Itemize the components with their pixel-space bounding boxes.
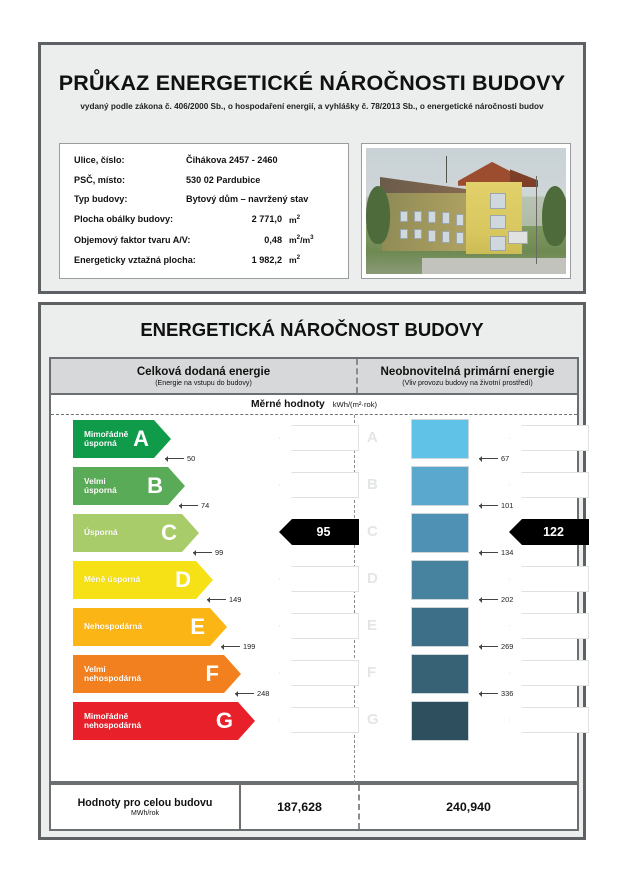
- boundary-left: 74: [179, 501, 209, 510]
- shape-factor-label: Objemový faktor tvaru A/V:: [74, 235, 224, 245]
- class-arrow-b: Velmi úspornáB: [73, 467, 185, 505]
- boundary-right: 202: [479, 595, 513, 604]
- energy-class-rows: Mimořádně úspornáA50A67Velmi úspornáB74B…: [51, 417, 577, 746]
- totals-row: Hodnoty pro celou budovu MWh/rok 187,628…: [49, 783, 579, 831]
- slot-letter-left: B: [367, 476, 378, 493]
- slot-letter-left: D: [367, 570, 378, 587]
- boundary-left: 149: [207, 595, 241, 604]
- value-tag-left: 95: [279, 519, 359, 545]
- primary-energy-block: [411, 513, 469, 553]
- slot-letter-left: E: [367, 617, 377, 634]
- class-letter-e: E: [190, 614, 205, 640]
- envelope-area-unit: m2: [289, 214, 300, 225]
- primary-energy-block: [411, 654, 469, 694]
- zip-value: 530 02 Pardubice: [186, 175, 260, 185]
- class-letter-a: A: [133, 426, 149, 452]
- row-zip: PSČ, místo: 530 02 Pardubice: [74, 175, 336, 185]
- energy-class-row: Velmi nehospodárnáF248F336: [51, 652, 577, 699]
- class-letter-b: B: [147, 473, 163, 499]
- class-letter-c: C: [161, 520, 177, 546]
- boundary-left: 50: [165, 454, 195, 463]
- column-left-title: Celková dodaná energie: [137, 365, 270, 378]
- value-tag-left-text: 95: [308, 525, 331, 539]
- class-arrow-label: Méně úsporná: [84, 575, 140, 584]
- boundary-right: 269: [479, 642, 513, 651]
- class-arrow-label: Mimořádně nehospodárná: [84, 712, 141, 731]
- unit-main-label: Měrné hodnoty: [251, 399, 325, 410]
- totals-right-value: 240,940: [360, 785, 577, 829]
- value-slot-left: [279, 472, 359, 498]
- value-slot-right: [509, 566, 589, 592]
- value-slot-left: [279, 613, 359, 639]
- class-arrow-d: Méně úspornáD: [73, 561, 213, 599]
- street-label: Ulice, číslo:: [74, 155, 186, 165]
- column-left-subtitle: (Energie na vstupu do budovy): [155, 379, 252, 387]
- slot-letter-left: A: [367, 429, 378, 446]
- envelope-area-label: Plocha obálky budovy:: [74, 214, 224, 224]
- value-slot-right: [509, 425, 589, 451]
- building-type-label: Typ budovy:: [74, 194, 186, 204]
- energy-class-row: NehospodárnáE199E269: [51, 605, 577, 652]
- slot-letter-left: F: [367, 664, 376, 681]
- boundary-right: 67: [479, 454, 509, 463]
- value-slot-right: [509, 613, 589, 639]
- shape-factor-unit: m2/m3: [289, 234, 314, 245]
- totals-label-cell: Hodnoty pro celou budovu MWh/rok: [51, 785, 241, 829]
- value-tag-right: 122: [509, 519, 589, 545]
- energy-class-row: Méně úspornáD149D202: [51, 558, 577, 605]
- building-type-value: Bytový dům – navržený stav: [186, 194, 308, 204]
- column-right-subtitle: (Vliv provozu budovy na životní prostřed…: [402, 379, 533, 387]
- primary-energy-block: [411, 560, 469, 600]
- boundary-right: 336: [479, 689, 513, 698]
- energy-section-title: ENERGETICKÁ NÁROČNOST BUDOVY: [41, 305, 583, 341]
- column-right-title: Neobnovitelná primární energie: [381, 365, 555, 378]
- unit-sub-label: kWh/(m²·rok): [333, 400, 377, 409]
- row-street: Ulice, číslo: Čihákova 2457 - 2460: [74, 155, 336, 165]
- energy-class-row: Velmi úspornáB74B101: [51, 464, 577, 511]
- row-reference-area: Energeticky vztažná plocha: 1 982,2 m2: [74, 254, 336, 265]
- row-shape-factor: Objemový faktor tvaru A/V: 0,48 m2/m3: [74, 234, 336, 245]
- class-arrow-a: Mimořádně úspornáA: [73, 420, 171, 458]
- value-slot-left: [279, 707, 359, 733]
- boundary-left: 199: [221, 642, 255, 651]
- boundary-left: 99: [193, 548, 223, 557]
- zip-label: PSČ, místo:: [74, 175, 186, 185]
- value-slot-left: [279, 660, 359, 686]
- penb-document: PRŮKAZ ENERGETICKÉ NÁROČNOSTI BUDOVY vyd…: [0, 0, 624, 882]
- class-arrow-label: Velmi úsporná: [84, 477, 117, 496]
- reference-area-label: Energeticky vztažná plocha:: [74, 255, 224, 265]
- class-letter-d: D: [175, 567, 191, 593]
- column-header-primary-energy: Neobnovitelná primární energie (Vliv pro…: [358, 359, 577, 393]
- row-building-type: Typ budovy: Bytový dům – navržený stav: [74, 194, 336, 204]
- primary-energy-block: [411, 419, 469, 459]
- energy-class-row: Mimořádně nehospodárnáGG: [51, 699, 577, 746]
- document-title: PRŮKAZ ENERGETICKÉ NÁROČNOSTI BUDOVY: [41, 71, 583, 96]
- class-arrow-label: Nehospodárná: [84, 622, 142, 631]
- totals-unit: MWh/rok: [131, 810, 159, 817]
- boundary-right: 134: [479, 548, 513, 557]
- street-value: Čihákova 2457 - 2460: [186, 155, 278, 165]
- class-arrow-label: Velmi nehospodárná: [84, 665, 141, 684]
- slot-letter-left: C: [367, 523, 378, 540]
- row-envelope-area: Plocha obálky budovy: 2 771,0 m2: [74, 214, 336, 225]
- class-arrow-f: Velmi nehospodárnáF: [73, 655, 241, 693]
- totals-left-value: 187,628: [241, 785, 360, 829]
- class-letter-f: F: [206, 661, 219, 687]
- energy-rating-panel: ENERGETICKÁ NÁROČNOST BUDOVY Celková dod…: [38, 302, 586, 840]
- class-arrow-g: Mimořádně nehospodárnáG: [73, 702, 255, 740]
- primary-energy-block: [411, 466, 469, 506]
- value-slot-right: [509, 707, 589, 733]
- boundary-right: 101: [479, 501, 513, 510]
- value-slot-left: [279, 566, 359, 592]
- energy-class-row: Mimořádně úspornáA50A67: [51, 417, 577, 464]
- columns-header: Celková dodaná energie (Energie na vstup…: [49, 357, 579, 395]
- value-slot-right: [509, 472, 589, 498]
- energy-class-row: ÚspornáC9995C134122: [51, 511, 577, 558]
- slot-letter-left: G: [367, 711, 379, 728]
- totals-label: Hodnoty pro celou budovu: [78, 797, 213, 809]
- class-letter-g: G: [216, 708, 233, 734]
- class-arrow-label: Mimořádně úsporná: [84, 430, 128, 449]
- reference-area-unit: m2: [289, 254, 300, 265]
- class-arrow-e: NehospodárnáE: [73, 608, 227, 646]
- identification-area: Ulice, číslo: Čihákova 2457 - 2460 PSČ, …: [59, 143, 571, 279]
- column-header-total-delivered: Celková dodaná energie (Energie na vstup…: [51, 359, 358, 393]
- boundary-left: 248: [235, 689, 269, 698]
- identification-box: Ulice, číslo: Čihákova 2457 - 2460 PSČ, …: [59, 143, 349, 279]
- document-subtitle: vydaný podle zákona č. 406/2000 Sb., o h…: [41, 102, 583, 111]
- primary-energy-block: [411, 701, 469, 741]
- value-slot-left: [279, 425, 359, 451]
- unit-row: Měrné hodnoty kWh/(m²·rok): [51, 395, 577, 415]
- header-panel: PRŮKAZ ENERGETICKÉ NÁROČNOSTI BUDOVY vyd…: [38, 42, 586, 294]
- building-photo-frame: [361, 143, 571, 279]
- building-photo: [366, 148, 566, 274]
- class-arrow-c: ÚspornáC: [73, 514, 199, 552]
- reference-area-value: 1 982,2: [224, 255, 282, 265]
- shape-factor-value: 0,48: [224, 235, 282, 245]
- class-arrow-label: Úsporná: [84, 528, 118, 537]
- envelope-area-value: 2 771,0: [224, 214, 282, 224]
- primary-energy-block: [411, 607, 469, 647]
- energy-scale-area: Měrné hodnoty kWh/(m²·rok) Mimořádně úsp…: [49, 395, 579, 783]
- value-slot-right: [509, 660, 589, 686]
- value-tag-right-text: 122: [534, 525, 564, 539]
